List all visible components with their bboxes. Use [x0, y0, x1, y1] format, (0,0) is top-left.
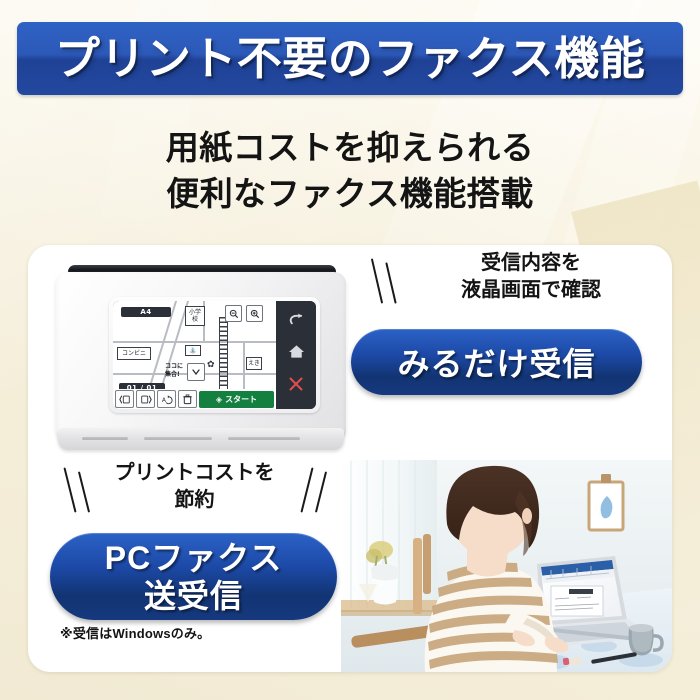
badge-pc-fax: PCファクス 送受信 [50, 533, 337, 620]
back-arrow-icon[interactable] [288, 313, 305, 333]
printer-tray-slot [144, 437, 212, 440]
start-diamond-icon: ◈ [216, 395, 222, 404]
delete-button[interactable] [178, 390, 197, 408]
subtitle: 用紙コストを抑えられる 便利なファクス機能搭載 [0, 125, 700, 217]
callout-save-print-cost: プリントコストを 節約 [82, 460, 307, 514]
subtitle-line-2: 便利なファクス機能搭載 [0, 171, 700, 217]
header-banner: プリント不要のファクス機能 [17, 22, 683, 95]
next-page-button[interactable] [136, 390, 155, 408]
map-park-icon: ⛲ [185, 345, 201, 356]
map-note-line-1: ココに [165, 363, 183, 370]
chevron-down-icon[interactable] [187, 363, 205, 381]
subtitle-line-1: 用紙コストを抑えられる [0, 125, 700, 171]
lcd-toolbar: A ◈ スタート [113, 389, 276, 409]
footnote-windows-only: ※受信はWindowsのみ。 [60, 623, 210, 642]
callout-bottom-line-2: 節約 [82, 487, 307, 514]
lcd-screen: A4 01 / 01 小学校 コンビニ えき ⛲ ココに 集合! [113, 301, 276, 409]
map-label-convenience-store: コンビニ [117, 347, 151, 360]
rotate-button[interactable]: A [157, 390, 176, 408]
badge-miru-dake-jushin: みるだけ受信 [351, 329, 642, 395]
banner-title: プリント不要のファクス機能 [55, 36, 645, 81]
advertisement-page: プリント不要のファクス機能 用紙コストを抑えられる 便利なファクス機能搭載 [0, 0, 700, 700]
printer-tray-slot [228, 437, 300, 440]
printer-tray-slot [82, 437, 128, 440]
map-railway [219, 317, 228, 391]
map-note-line-2: 集合! [165, 371, 180, 378]
zoom-out-icon[interactable] [225, 305, 242, 322]
badge-pc-fax-line-2: 送受信 [144, 577, 243, 615]
printer-lcd-bezel: A4 01 / 01 小学校 コンビニ えき ⛲ ココに 集合! [109, 297, 320, 413]
map-label-school: 小学校 [185, 306, 205, 326]
emphasis-line [371, 258, 383, 303]
callout-receive-on-screen: 受信内容を 液晶画面で確認 [406, 250, 656, 304]
printer-lcd: A4 01 / 01 小学校 コンビニ えき ⛲ ココに 集合! [113, 301, 316, 409]
badge-pc-fax-line-1: PCファクス [105, 539, 283, 577]
start-button-label: スタート [225, 394, 257, 405]
zoom-in-icon[interactable] [246, 305, 263, 322]
lcd-side-buttons [276, 301, 316, 409]
map-flower-marker-icon: ✿ [207, 359, 215, 370]
map-road [243, 341, 245, 389]
callout-top-line-1: 受信内容を [406, 250, 656, 277]
emphasis-line [385, 262, 396, 303]
badge-miru-dake-jushin-label: みるだけ受信 [397, 339, 595, 385]
map-road [113, 341, 276, 343]
start-button[interactable]: ◈ スタート [199, 391, 274, 408]
lcd-paper-size-badge: A4 [121, 307, 171, 317]
photo-woman-using-laptop [341, 460, 672, 672]
previous-page-button[interactable] [115, 390, 134, 408]
home-icon[interactable] [288, 344, 305, 364]
emphasis-line [63, 467, 76, 512]
printer-output-tray [58, 428, 344, 450]
callout-bottom-line-1: プリントコストを [82, 460, 307, 487]
callout-top-line-2: 液晶画面で確認 [406, 277, 656, 304]
content-card: A4 01 / 01 小学校 コンビニ えき ⛲ ココに 集合! [28, 245, 672, 672]
close-x-icon[interactable] [288, 376, 304, 397]
map-label-station: えき [246, 357, 262, 370]
photo-illustration [341, 460, 672, 672]
emphasis-line [315, 471, 327, 512]
printer-illustration: A4 01 / 01 小学校 コンビニ えき ⛲ ココに 集合! [56, 265, 346, 455]
